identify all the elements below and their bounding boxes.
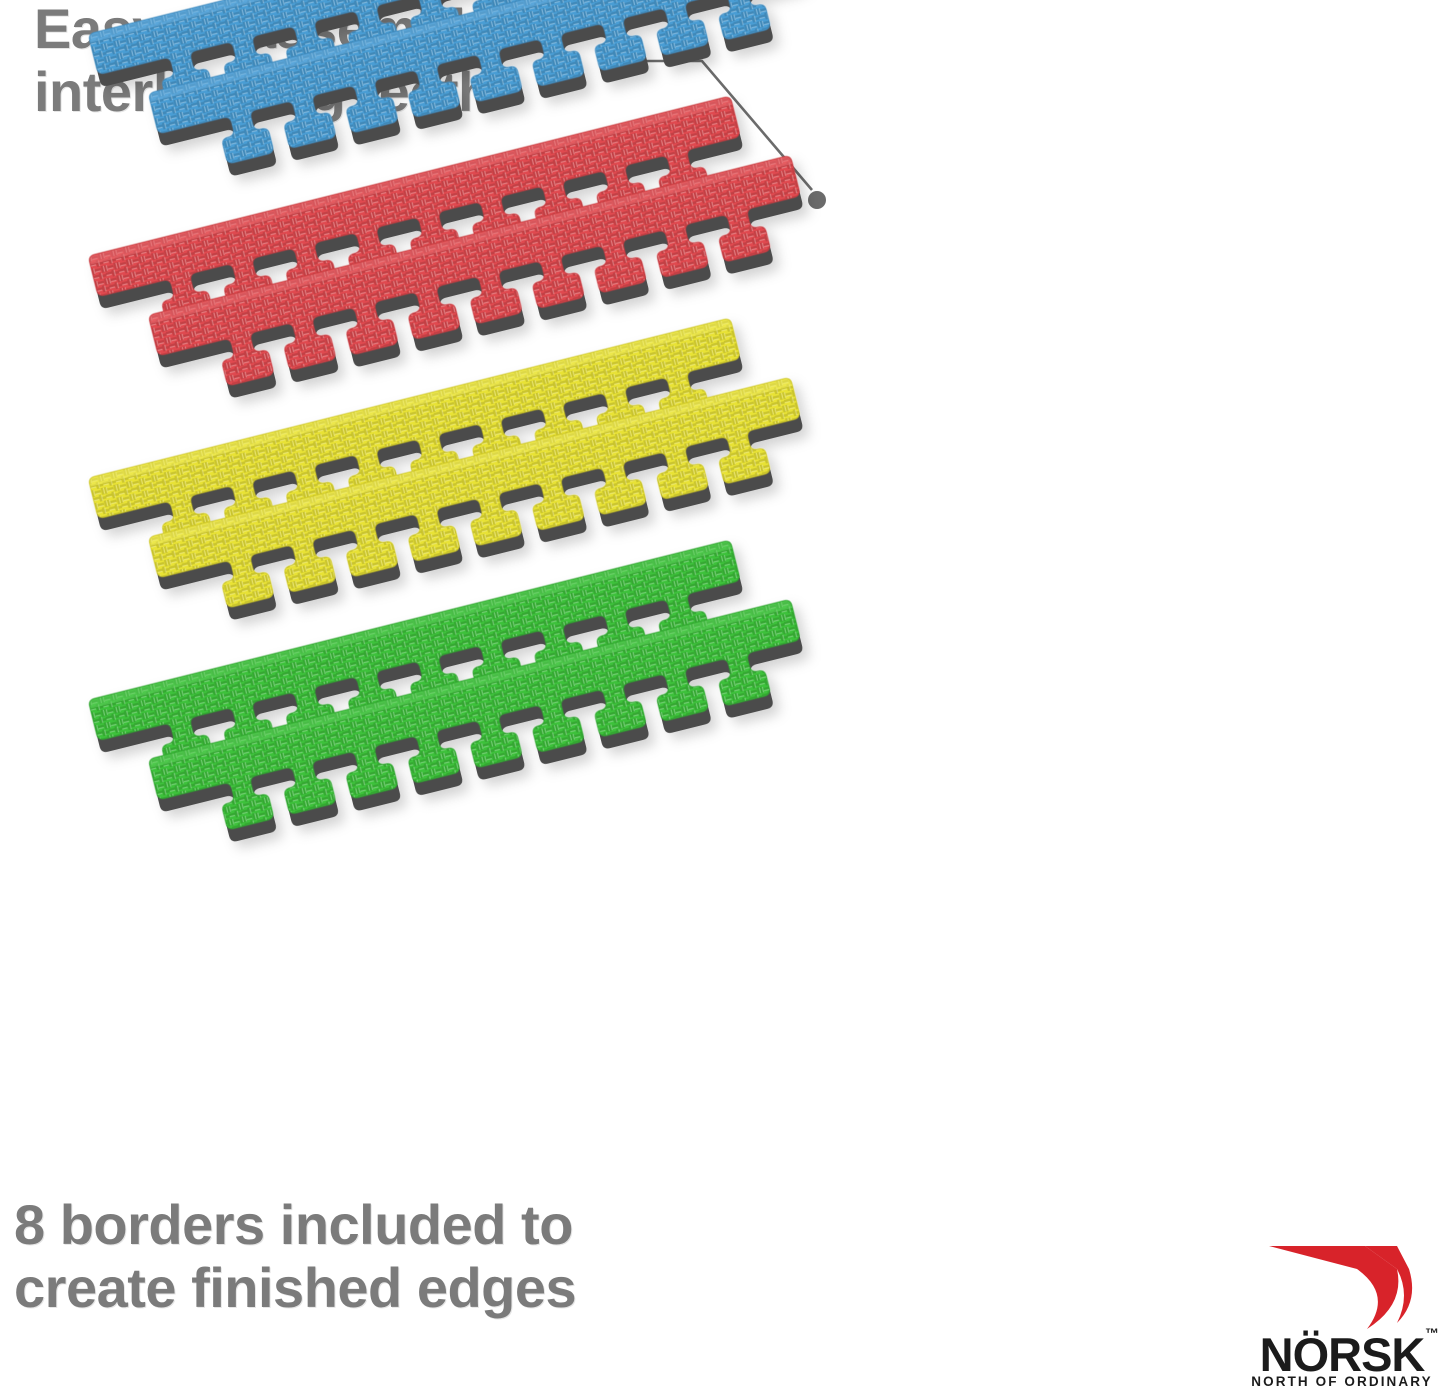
product-marketing-image: Easy to assemble interlocking teeth <box>0 0 1445 1395</box>
logo-wordmark: NÖRSK <box>1247 1331 1437 1378</box>
norsk-swoosh-icon <box>1247 1243 1437 1335</box>
foam-border-strips <box>0 0 1445 1395</box>
footnote-text: 8 borders included to create finished ed… <box>14 1194 576 1319</box>
logo-tagline: NORTH OF ORDINARY <box>1247 1374 1437 1389</box>
norsk-logo: NÖRSK ™ NORTH OF ORDINARY <box>1247 1243 1437 1389</box>
logo-trademark-icon: ™ <box>1425 1325 1439 1341</box>
